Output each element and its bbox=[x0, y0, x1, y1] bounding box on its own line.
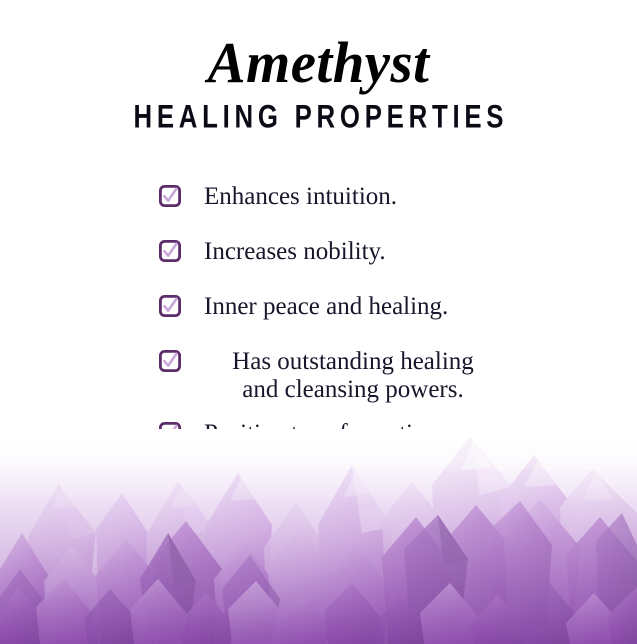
page-subtitle: HEALING PROPERTIES bbox=[45, 92, 593, 135]
page-title: Amethyst bbox=[6, 0, 630, 92]
list-item: Increases nobility. bbox=[0, 238, 637, 266]
list-item-label: Inner peace and healing. bbox=[159, 293, 637, 321]
amethyst-crystal-cluster-photo bbox=[0, 429, 637, 644]
list-item-label: Increases nobility. bbox=[159, 238, 637, 266]
checked-checkbox-icon bbox=[159, 350, 181, 372]
list-item-label: Has outstanding healing and cleansing po… bbox=[159, 348, 637, 404]
checked-checkbox-icon bbox=[159, 185, 181, 207]
list-item: Enhances intuition. bbox=[0, 183, 637, 211]
list-item: Inner peace and healing. bbox=[0, 293, 637, 321]
poster-header: Amethyst HEALING PROPERTIES bbox=[0, 0, 637, 132]
healing-properties-list: Enhances intuition. Increases nobility. … bbox=[0, 183, 637, 448]
checked-checkbox-icon bbox=[159, 295, 181, 317]
list-item-label: Enhances intuition. bbox=[159, 183, 637, 211]
list-item: Has outstanding healing and cleansing po… bbox=[0, 348, 637, 404]
poster-canvas: Amethyst HEALING PROPERTIES Enhances int… bbox=[0, 0, 637, 644]
checked-checkbox-icon bbox=[159, 240, 181, 262]
